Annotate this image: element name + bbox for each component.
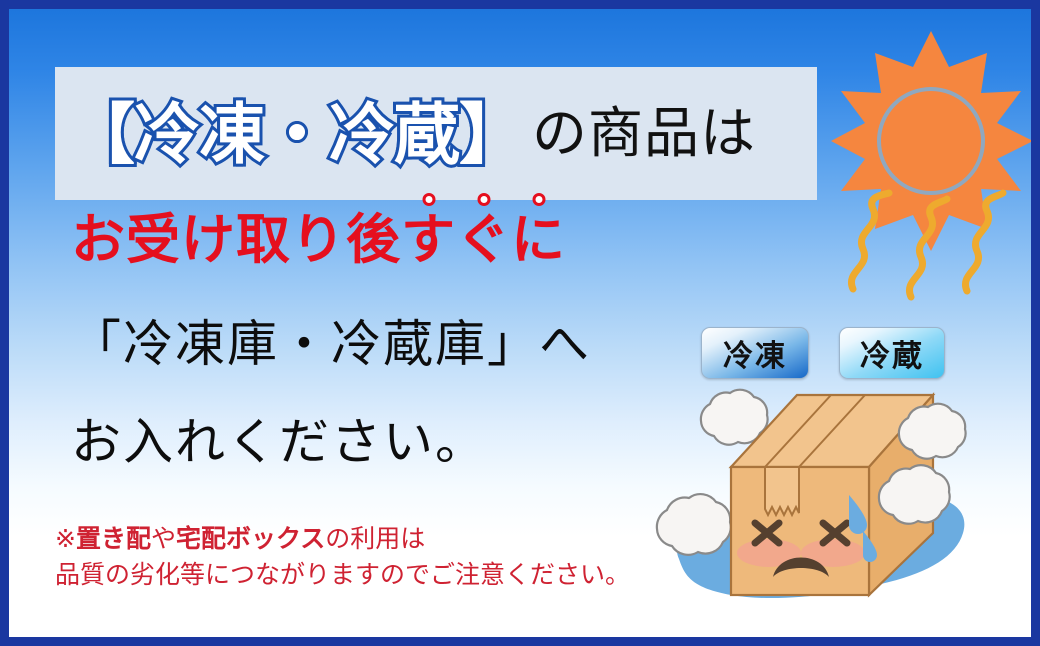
body-line-one-tail: へ	[539, 316, 591, 372]
bottom-note: ※置き配や宅配ボックスの利用は 品質の劣化等につながりますのでご注意ください。	[55, 521, 630, 594]
sun-and-heatwaves-illustration	[831, 23, 1040, 303]
badge-chilled-label: 冷蔵	[860, 331, 924, 375]
note-line-two: 品質の劣化等につながりますのでご注意ください。	[55, 557, 630, 593]
emphasis-char-3: に	[511, 213, 566, 267]
badge-frozen[interactable]: 冷凍	[701, 327, 809, 379]
red-line-plain: お受け取り後	[71, 210, 401, 270]
header-band: 【冷凍・冷蔵】 の商品は	[55, 67, 817, 200]
note-mid: や	[151, 525, 176, 553]
body-line-one: 「冷凍庫・冷蔵庫」へ	[71, 319, 591, 369]
note-mark: ※	[55, 525, 76, 553]
header-tail-text: の商品は	[532, 106, 756, 161]
box-torn-tape	[765, 467, 799, 515]
emphasis-char-1: す	[401, 213, 456, 267]
quote-close: 」	[487, 319, 539, 369]
badge-chilled[interactable]: 冷蔵	[839, 327, 945, 379]
sad-cardboard-box-illustration	[627, 381, 967, 631]
body-line-two: お入れください。	[71, 417, 487, 467]
poster-root: 【冷凍・冷蔵】 の商品は お受け取り後すぐに 「冷凍庫・冷蔵庫」へ お入れくださ…	[0, 0, 1040, 646]
note-strong-takuhai-box: 宅配ボックス	[176, 525, 325, 553]
note-strong-okihai: 置き配	[76, 525, 151, 553]
steam-cloud-left	[657, 494, 731, 555]
note-line-one: ※置き配や宅配ボックスの利用は	[55, 521, 630, 557]
note-tail: の利用は	[325, 525, 425, 553]
badge-frozen-label: 冷凍	[723, 331, 787, 375]
body-highlight-text: 冷凍庫・冷蔵庫	[123, 319, 487, 369]
emphasis-char-2: ぐ	[456, 213, 511, 267]
quote-open: 「	[71, 316, 123, 372]
red-emphasis-line: お受け取り後すぐに	[71, 213, 566, 267]
header-bracket-text: 【冷凍・冷蔵】	[69, 101, 524, 167]
